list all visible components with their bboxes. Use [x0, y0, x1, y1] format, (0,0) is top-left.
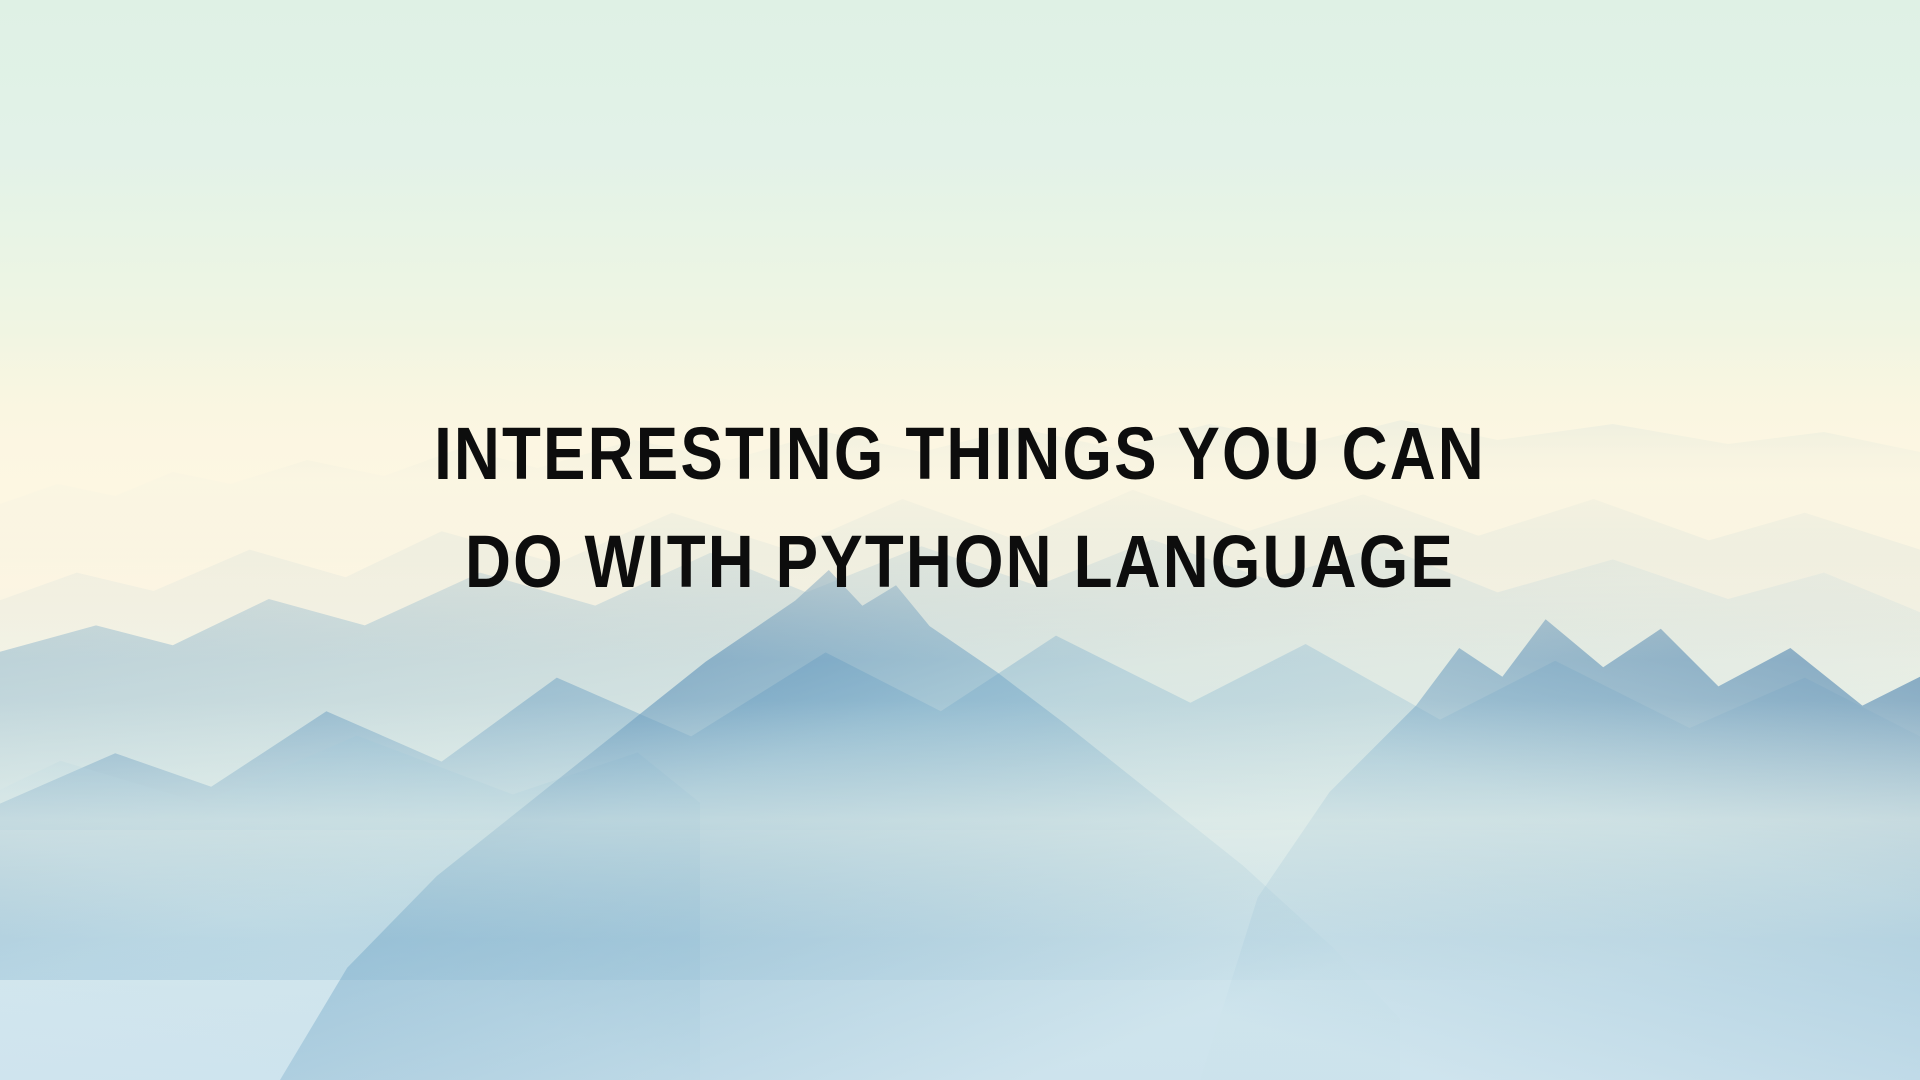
title-line-1: INTERESTING THINGS YOU CAN: [134, 400, 1785, 508]
title-line-2: DO WITH PYTHON LANGUAGE: [134, 508, 1785, 616]
slide-canvas: INTERESTING THINGS YOU CAN DO WITH PYTHO…: [0, 0, 1920, 1080]
page-title: INTERESTING THINGS YOU CAN DO WITH PYTHO…: [0, 400, 1920, 616]
